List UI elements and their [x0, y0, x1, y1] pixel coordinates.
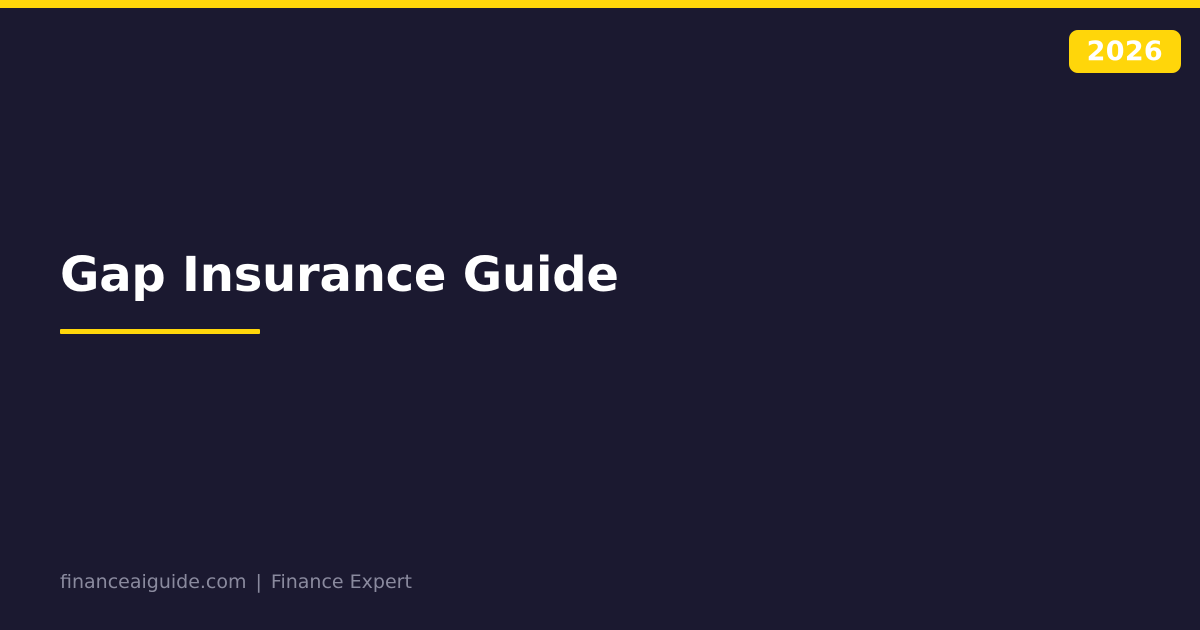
page-title: Gap Insurance Guide	[60, 250, 1120, 302]
footer: financeaiguide.com | Finance Expert	[60, 571, 412, 594]
footer-byline: Finance Expert	[271, 571, 412, 594]
footer-separator: |	[256, 571, 262, 594]
title-accent-rule	[60, 329, 260, 334]
year-badge: 2026	[1069, 30, 1181, 73]
cover-canvas: 2026 Gap Insurance Guide financeaiguide.…	[0, 0, 1200, 630]
footer-site-name: financeaiguide.com	[60, 571, 247, 594]
year-badge-label: 2026	[1087, 38, 1163, 65]
hero-block: Gap Insurance Guide	[60, 250, 1120, 334]
top-accent-stripe	[0, 0, 1200, 8]
